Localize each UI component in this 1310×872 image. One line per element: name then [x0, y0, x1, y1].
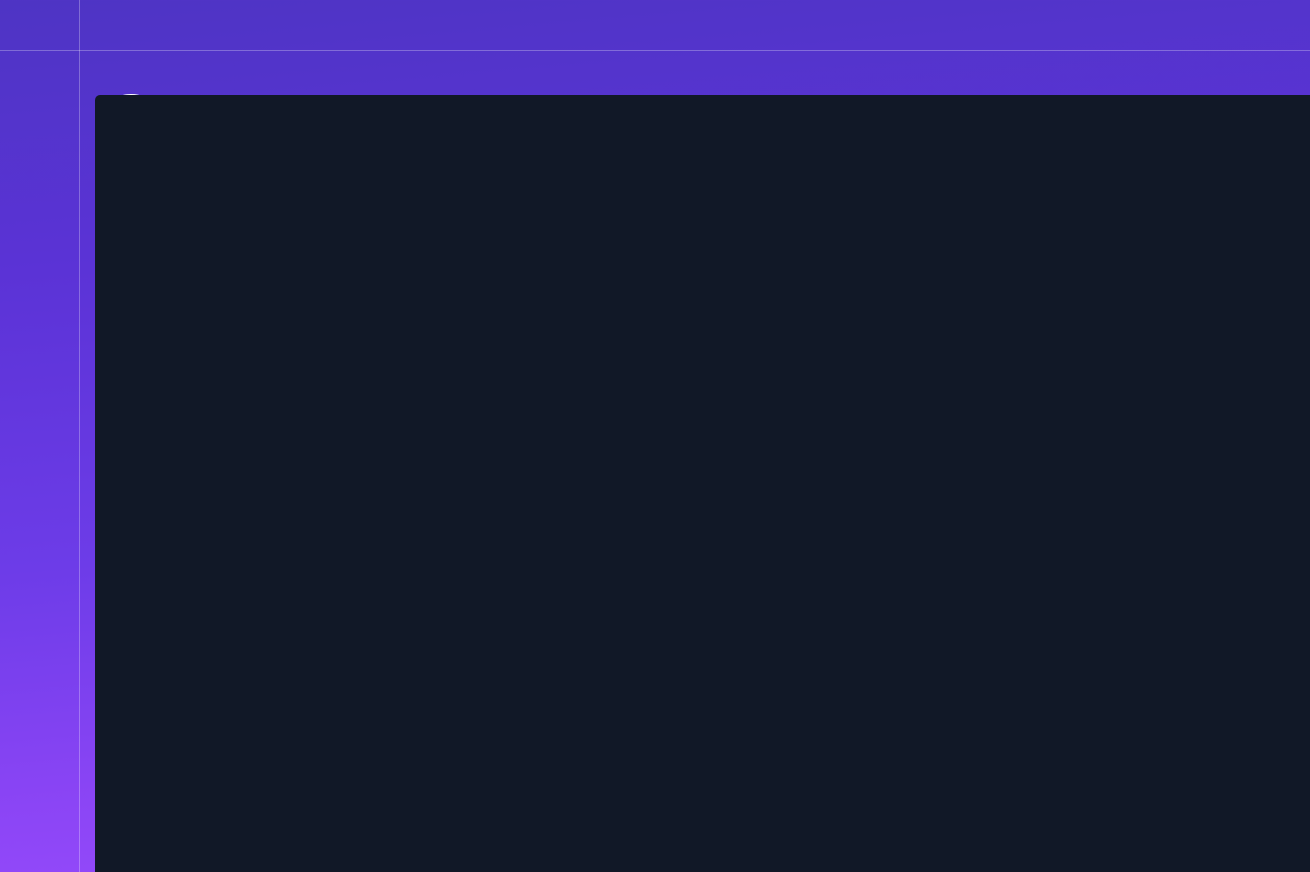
guide-line-vertical — [79, 0, 80, 872]
guide-line-horizontal — [0, 50, 1310, 51]
design-system-card — [95, 95, 1310, 872]
